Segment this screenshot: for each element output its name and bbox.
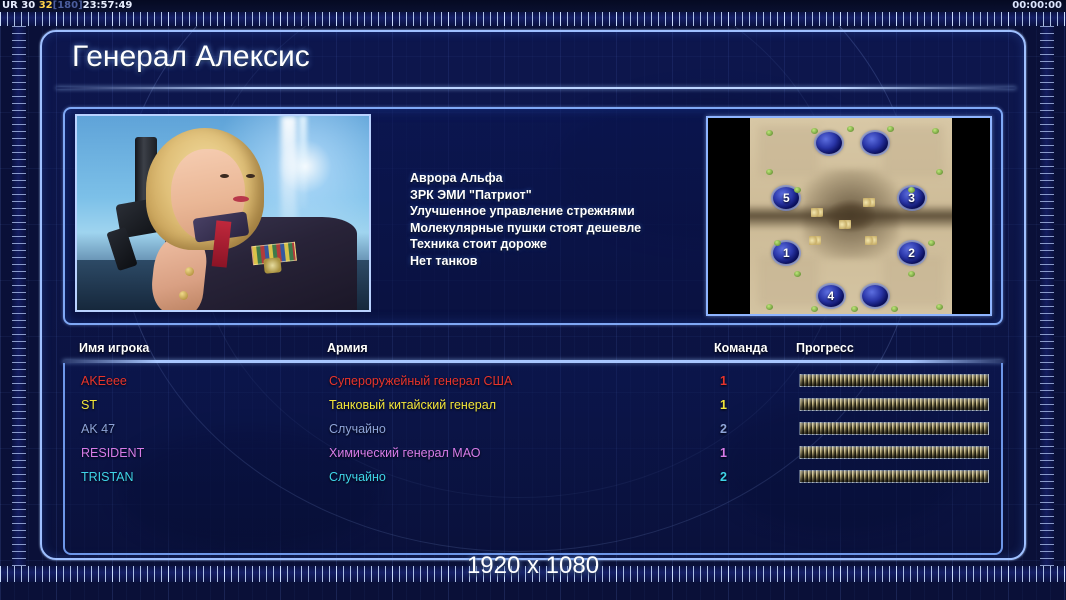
player-army[interactable]: Танковый китайский генерал: [329, 393, 496, 417]
description-line: Улучшенное управление стрежнями: [410, 203, 700, 220]
map-preview[interactable]: 53124: [706, 116, 992, 316]
map-resource-cluster: [809, 236, 821, 245]
column-header-progress: Прогресс: [796, 341, 854, 355]
column-header-army: Армия: [327, 341, 368, 355]
table-row[interactable]: STТанковый китайский генерал1: [65, 393, 1005, 417]
map-resource-cluster: [863, 198, 875, 207]
map-supply-dock: [766, 130, 773, 136]
map-supply-dock: [928, 240, 935, 246]
ruler-top-ticks: [0, 12, 1066, 26]
map-supply-dock: [936, 304, 943, 310]
table-row[interactable]: AK 47Случайно2: [65, 417, 1005, 441]
map-supply-dock: [766, 304, 773, 310]
table-row[interactable]: AKEeeeСупероружейный генерал США1: [65, 369, 1005, 393]
map-supply-dock: [891, 306, 898, 312]
table-row[interactable]: TRISTANСлучайно2: [65, 465, 1005, 489]
description-line: Аврора Альфа: [410, 170, 700, 187]
ruler-right: [1040, 26, 1054, 566]
map-supply-dock: [936, 169, 943, 175]
map-supply-dock: [774, 240, 781, 246]
status-left-text: UR 30 32[180]23:57:49: [2, 0, 132, 12]
player-team[interactable]: 2: [720, 465, 727, 489]
column-header-team: Команда: [714, 341, 768, 355]
player-table-header: Имя игрока Армия Команда Прогресс: [79, 341, 999, 361]
player-progress-bar: [799, 422, 989, 435]
status-bar: UR 30 32[180]23:57:49 00:00:00: [0, 0, 1066, 12]
player-army[interactable]: Случайно: [329, 417, 386, 441]
uniform-button-icon: [179, 291, 188, 300]
player-team[interactable]: 1: [720, 393, 727, 417]
ruler-left-ticks: [12, 26, 26, 566]
player-team[interactable]: 2: [720, 417, 727, 441]
map-start-position[interactable]: [862, 285, 888, 307]
player-army[interactable]: Случайно: [329, 465, 386, 489]
status-time: 23:57:49: [83, 0, 133, 11]
column-header-player-name: Имя игрока: [79, 341, 149, 355]
table-row[interactable]: RESIDENTХимический генерал МАО1: [65, 441, 1005, 465]
map-image: 53124: [750, 118, 952, 314]
player-name: AK 47: [81, 417, 115, 441]
ruler-right-ticks: [1040, 26, 1054, 566]
game-lobby-screen: UR 30 32[180]23:57:49 00:00:00 Генерал А…: [0, 0, 1066, 600]
page-title: Генерал Алексис: [72, 40, 310, 74]
title-divider: [56, 87, 1016, 89]
map-start-position[interactable]: [862, 132, 888, 154]
status-bracket: [180]: [53, 0, 83, 11]
player-progress-bar: [799, 446, 989, 459]
status-right-timer: 00:00:00: [1012, 0, 1062, 12]
map-supply-dock: [847, 126, 854, 132]
map-supply-dock: [811, 306, 818, 312]
player-army[interactable]: Супероружейный генерал США: [329, 369, 512, 393]
ruler-top: [0, 12, 1066, 26]
status-highlight: 32: [39, 0, 53, 11]
title-area: Генерал Алексис: [48, 34, 1018, 86]
status-prefix: UR 30: [2, 0, 39, 11]
player-name: ST: [81, 393, 97, 417]
map-start-position[interactable]: 4: [818, 285, 844, 307]
map-supply-dock: [908, 271, 915, 277]
description-line: Молекулярные пушки стоят дешевле: [410, 220, 700, 237]
player-team[interactable]: 1: [720, 441, 727, 465]
player-name: TRISTAN: [81, 465, 134, 489]
map-supply-dock: [851, 306, 858, 312]
player-progress-bar: [799, 398, 989, 411]
general-description: Аврора Альфа ЗРК ЭМИ "Патриот" Улучшенно…: [410, 170, 700, 269]
portrait-lips: [233, 196, 249, 202]
player-name: RESIDENT: [81, 441, 144, 465]
player-table-body: AKEeeeСупероружейный генерал США1STТанко…: [63, 363, 1003, 555]
player-progress-bar: [799, 470, 989, 483]
player-progress-bar: [799, 374, 989, 387]
description-line: Нет танков: [410, 253, 700, 270]
map-resource-cluster: [865, 236, 877, 245]
ruler-left: [12, 26, 26, 566]
description-line: Техника стоит дороже: [410, 236, 700, 253]
map-supply-dock: [794, 187, 801, 193]
map-start-position[interactable]: [816, 132, 842, 154]
map-start-position[interactable]: 2: [899, 242, 925, 264]
player-team[interactable]: 1: [720, 369, 727, 393]
description-line: ЗРК ЭМИ "Патриот": [410, 187, 700, 204]
map-resource-cluster: [839, 220, 851, 229]
player-army[interactable]: Химический генерал МАО: [329, 441, 480, 465]
portrait-light-beam-2: [299, 116, 307, 209]
map-resource-cluster: [811, 208, 823, 217]
map-supply-dock: [932, 128, 939, 134]
rank-badge-icon: [263, 257, 281, 274]
player-name: AKEeee: [81, 369, 127, 393]
map-start-position[interactable]: 1: [773, 242, 799, 264]
map-supply-dock: [908, 187, 915, 193]
resolution-label: 1920 x 1080: [0, 552, 1066, 580]
general-portrait: [75, 114, 371, 312]
map-supply-dock: [811, 128, 818, 134]
